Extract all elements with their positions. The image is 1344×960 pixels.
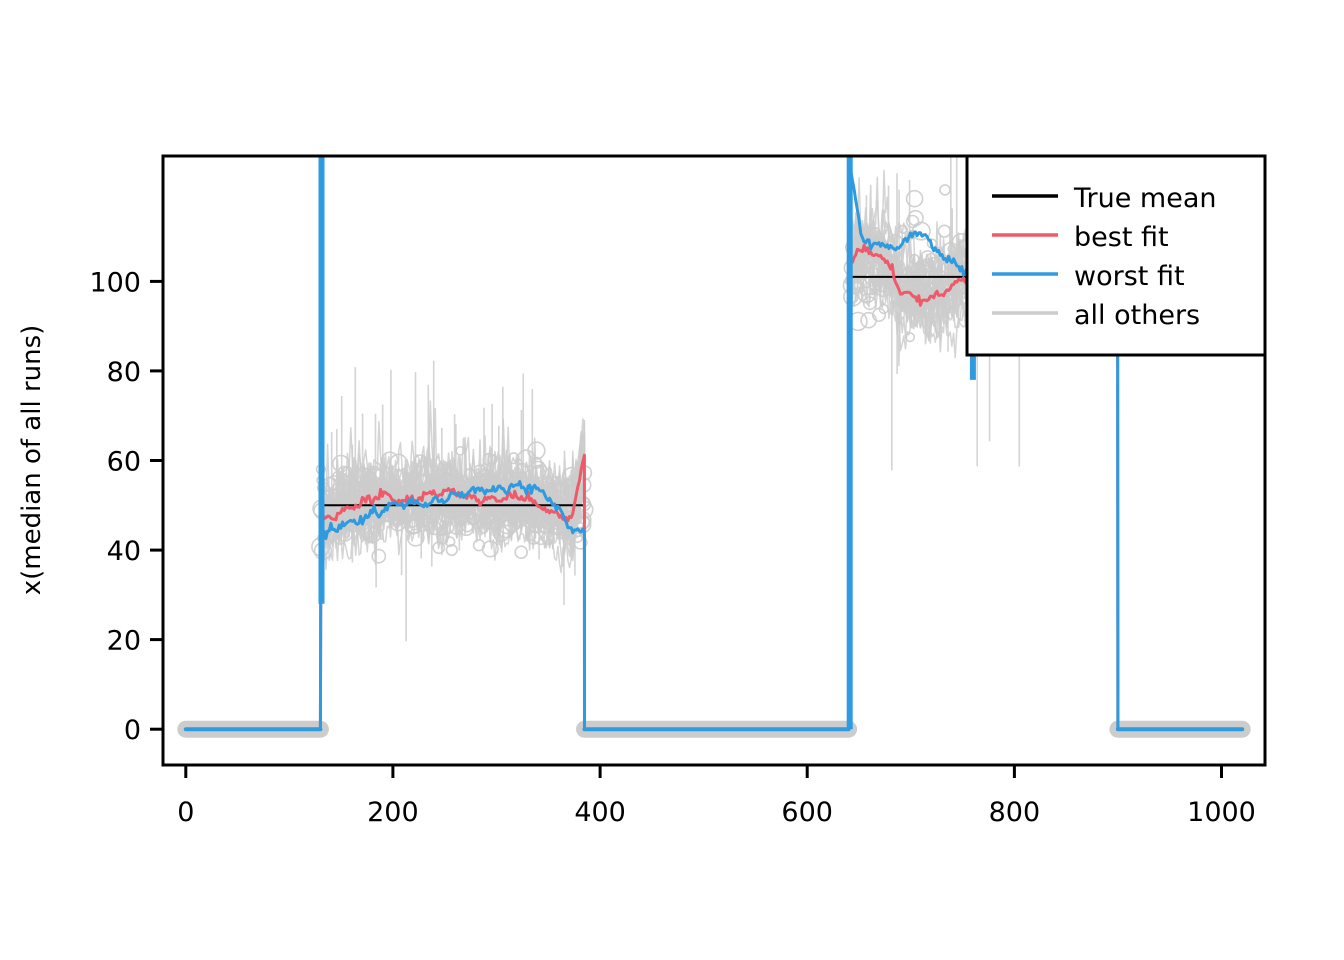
x-tick-label: 800 xyxy=(989,797,1041,828)
legend-label: all others xyxy=(1074,300,1200,331)
y-axis-label: x(median of all runs) xyxy=(17,325,47,596)
chart-legend[interactable]: True meanbest fitworst fitall others xyxy=(967,156,1265,355)
y-tick-label: 20 xyxy=(107,626,141,657)
y-tick-label: 80 xyxy=(107,357,141,388)
y-tick-label: 40 xyxy=(107,536,141,567)
x-tick-label: 600 xyxy=(781,797,833,828)
figure-canvas: vst_smooth 02004006008001000020406080100… xyxy=(0,0,1344,960)
y-tick-label: 100 xyxy=(89,267,141,298)
y-tick-label: 60 xyxy=(107,447,141,478)
legend-label: worst fit xyxy=(1074,261,1185,292)
plot-area: 02004006008001000020406080100 x(median o… xyxy=(0,0,1344,960)
x-tick-label: 200 xyxy=(367,797,419,828)
y-tick-label: 0 xyxy=(124,715,141,746)
figure-background xyxy=(0,0,1344,960)
legend-label: best fit xyxy=(1074,222,1169,253)
x-tick-label: 1000 xyxy=(1187,797,1256,828)
x-tick-label: 400 xyxy=(574,797,626,828)
x-tick-label: 0 xyxy=(177,797,194,828)
legend-label: True mean xyxy=(1073,183,1217,214)
